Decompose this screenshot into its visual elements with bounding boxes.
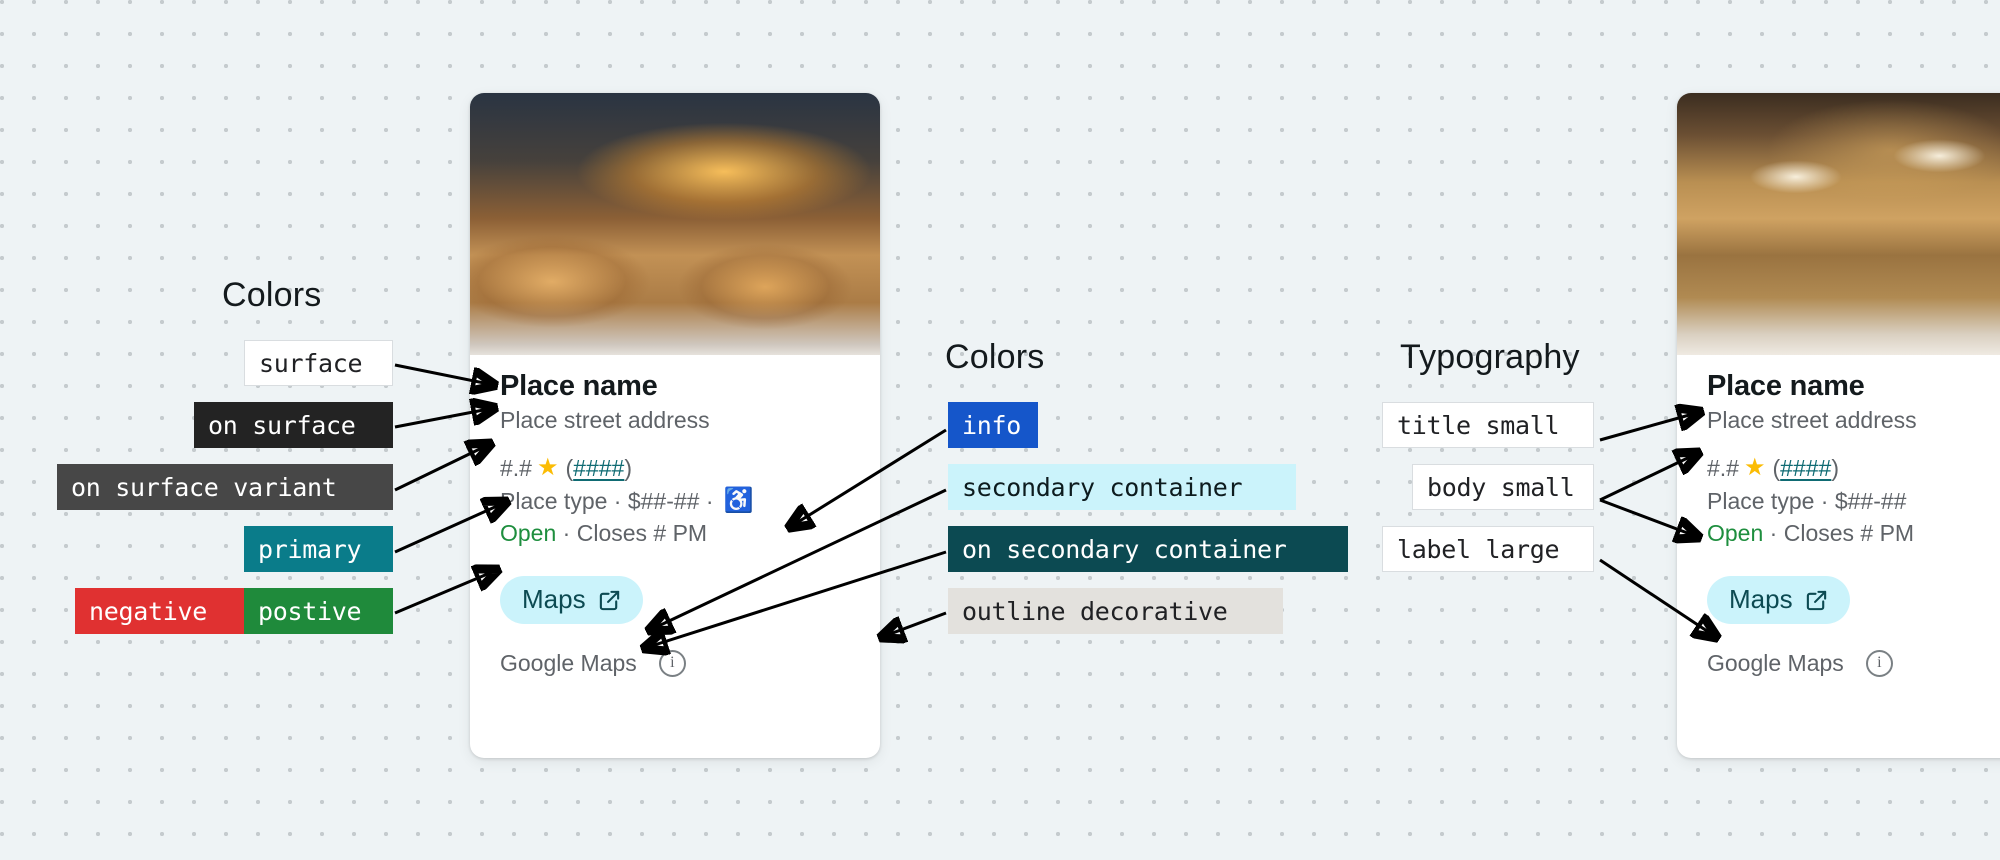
star-icon: ★ [537,452,559,484]
color-chip-on-surface-variant[interactable]: on surface variant [57,464,393,510]
card-footer: Google Maps i [1707,650,2000,697]
footer-label: Google Maps [500,650,637,677]
place-type-row: Place type · $##-## · ♿ [500,485,850,518]
color-chip-label: info [962,411,1021,440]
color-chip-on-surface[interactable]: on surface [194,402,393,448]
section-title-colors-mid: Colors [945,338,1044,377]
color-chip-label: outline decorative [962,597,1228,626]
place-hours-row: Open · Closes # PM [500,517,850,550]
place-card-body: Place name Place street address #.# ★ (#… [1677,355,2000,697]
place-photo-bakery [470,93,880,355]
review-count-link[interactable]: #### [573,453,624,484]
color-chip-info[interactable]: info [948,402,1038,448]
type-chip-label-large[interactable]: label large [1382,526,1594,572]
color-chip-label: on secondary container [962,535,1287,564]
place-type-row: Place type · $##-## [1707,485,2000,518]
type-chip-label: body small [1427,473,1575,502]
review-paren-close: ) [624,453,632,484]
color-chip-label: postive [258,597,361,626]
diagram-canvas: Colors Colors Typography surface on surf… [0,0,2000,860]
color-chip-negative[interactable]: negative [75,588,244,634]
status-separator: · [1763,520,1783,546]
status-open: Open [500,520,556,546]
type-chip-label: title small [1397,411,1559,440]
status-separator: · [556,520,576,546]
type-chip-body-small[interactable]: body small [1412,464,1594,510]
review-count-link[interactable]: #### [1780,453,1831,484]
color-chip-secondary-container[interactable]: secondary container [948,464,1296,510]
maps-button[interactable]: Maps [1707,576,1850,624]
color-chip-on-secondary-container[interactable]: on secondary container [948,526,1348,572]
star-icon: ★ [1744,452,1766,484]
color-chip-positive[interactable]: postive [244,588,393,634]
status-open: Open [1707,520,1763,546]
color-chip-surface[interactable]: surface [244,340,393,386]
section-title-typography: Typography [1400,338,1580,377]
info-icon[interactable]: i [659,650,686,677]
place-address: Place street address [500,405,850,436]
maps-button[interactable]: Maps [500,576,643,624]
external-link-icon [598,588,621,611]
type-chip-title-small[interactable]: title small [1382,402,1594,448]
color-chip-label: primary [258,535,361,564]
maps-button-label: Maps [522,584,586,615]
review-paren-close: ) [1831,453,1839,484]
color-chip-label: surface [259,349,362,378]
section-title-colors-left: Colors [222,276,321,315]
color-chip-label: negative [89,597,207,626]
place-name: Place name [500,369,850,403]
card-footer: Google Maps i [500,650,850,697]
external-link-icon [1805,588,1828,611]
place-card-right[interactable]: Place name Place street address #.# ★ (#… [1677,93,2000,758]
place-type-price: Place type · $##-## [1707,485,1906,518]
place-card-center[interactable]: Place name Place street address #.# ★ (#… [470,93,880,758]
place-rating-row: #.# ★ (####) [1707,452,2000,484]
place-photo-cafe [1677,93,2000,355]
color-chip-primary[interactable]: primary [244,526,393,572]
color-chip-outline-decorative[interactable]: outline decorative [948,588,1283,634]
place-card-body: Place name Place street address #.# ★ (#… [470,355,880,697]
color-chip-label: secondary container [962,473,1242,502]
review-paren-open: ( [1773,453,1781,484]
info-icon[interactable]: i [1866,650,1893,677]
arrow-outline-decorative-to-card-edge [882,613,946,637]
rating-value: #.# [500,453,532,484]
place-hours-row: Open · Closes # PM [1707,517,2000,550]
place-name: Place name [1707,369,2000,403]
footer-label: Google Maps [1707,650,1844,677]
place-rating-row: #.# ★ (####) [500,452,850,484]
wheelchair-icon: ♿ [724,489,754,513]
status-closes: Closes # PM [1784,520,1914,546]
place-address: Place street address [1707,405,2000,436]
place-type-price: Place type · $##-## · [500,485,714,518]
type-chip-label: label large [1397,535,1559,564]
color-chip-label: on surface variant [71,473,337,502]
color-chip-label: on surface [208,411,356,440]
status-closes: Closes # PM [577,520,707,546]
rating-value: #.# [1707,453,1739,484]
review-paren-open: ( [566,453,574,484]
maps-button-label: Maps [1729,584,1793,615]
